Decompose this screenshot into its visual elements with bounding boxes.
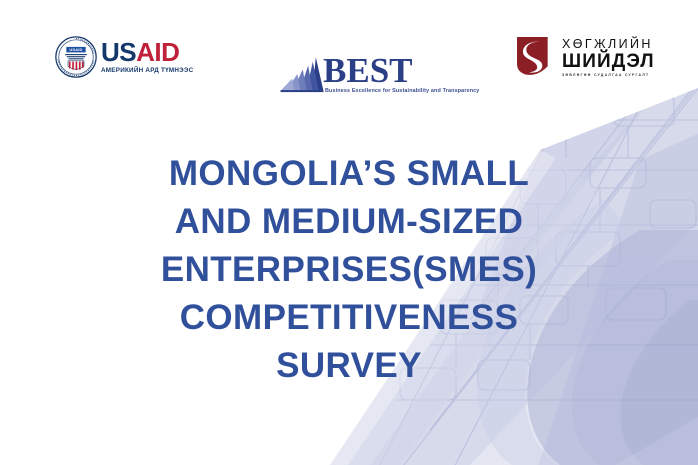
best-tagline: Business Excellence for Sustainability a… [325,88,479,94]
usaid-logo: USAID USAID АМЕРИКИ [55,36,193,78]
title-line-1: MONGOLIA’S SMALL [0,150,698,198]
title-line-2: AND MEDIUM-SIZED [0,198,698,246]
title-line-4: COMPETITIVENESS [0,294,698,342]
shiidel-line1: ХӨГЖЛИЙН [562,38,655,51]
khogjliin-shiidel-logo: ХӨГЖЛИЙН ШИЙДЭЛ ЗӨВЛӨГӨӨ СУДАЛГАА СУРГАЛ… [517,37,655,77]
svg-text:USAID: USAID [69,47,82,52]
page-title: MONGOLIA’S SMALL AND MEDIUM-SIZED ENTERP… [0,150,698,390]
usaid-word-us: US [101,37,136,67]
usaid-wordmark: USAID [101,39,193,65]
title-line-3: ENTERPRISES(SMES) [0,246,698,294]
usaid-word-aid: AID [136,37,179,67]
best-logo: BEST Business Excellence for Sustainabil… [279,54,479,94]
usaid-tagline: АМЕРИКИЙН АРД ТҮМНЭЭС [101,67,193,74]
shiidel-tagline: ЗӨВЛӨГӨӨ СУДАЛГАА СУРГАЛТ [562,73,655,77]
best-fan-icon [279,54,325,94]
title-line-5: SURVEY [0,342,698,390]
shiidel-swoosh-icon [517,37,557,77]
logo-row: USAID USAID АМЕРИКИ [0,0,698,118]
best-wordmark: BEST [323,54,479,87]
presentation-title-slide: USAID USAID АМЕРИКИ [0,0,698,465]
usaid-seal-icon: USAID [55,36,97,78]
shiidel-line2: ШИЙДЭЛ [562,52,655,71]
